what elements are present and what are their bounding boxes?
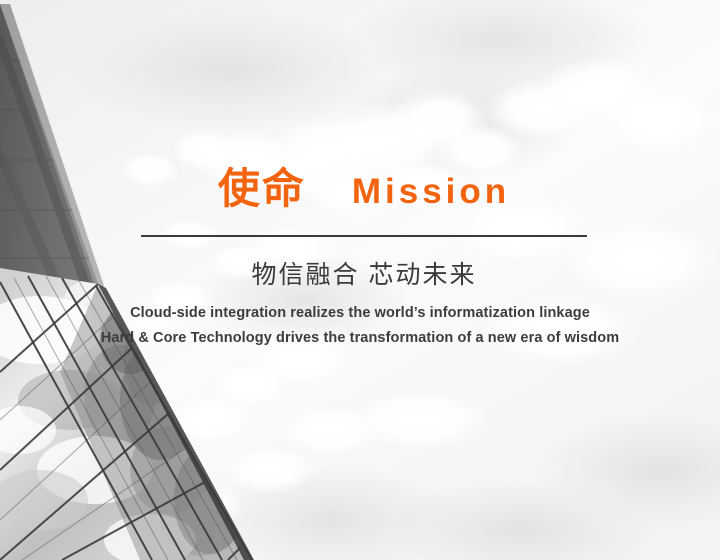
title-divider [141, 235, 587, 237]
title-chinese: 使命 [218, 168, 306, 210]
banner-content: 使命 Mission 物信融合 芯动未来 Cloud-side integrat… [0, 0, 720, 560]
subtitle-chinese: 物信融合 芯动未来 [141, 258, 587, 292]
banner-title: 使命 Mission [141, 168, 587, 230]
tagline-line-2: Hard & Core Technology drives the transf… [60, 330, 660, 346]
mission-banner: 使命 Mission 物信融合 芯动未来 Cloud-side integrat… [0, 0, 720, 560]
tagline-line-1: Cloud-side integration realizes the worl… [60, 305, 660, 321]
title-english: Mission [352, 174, 510, 209]
